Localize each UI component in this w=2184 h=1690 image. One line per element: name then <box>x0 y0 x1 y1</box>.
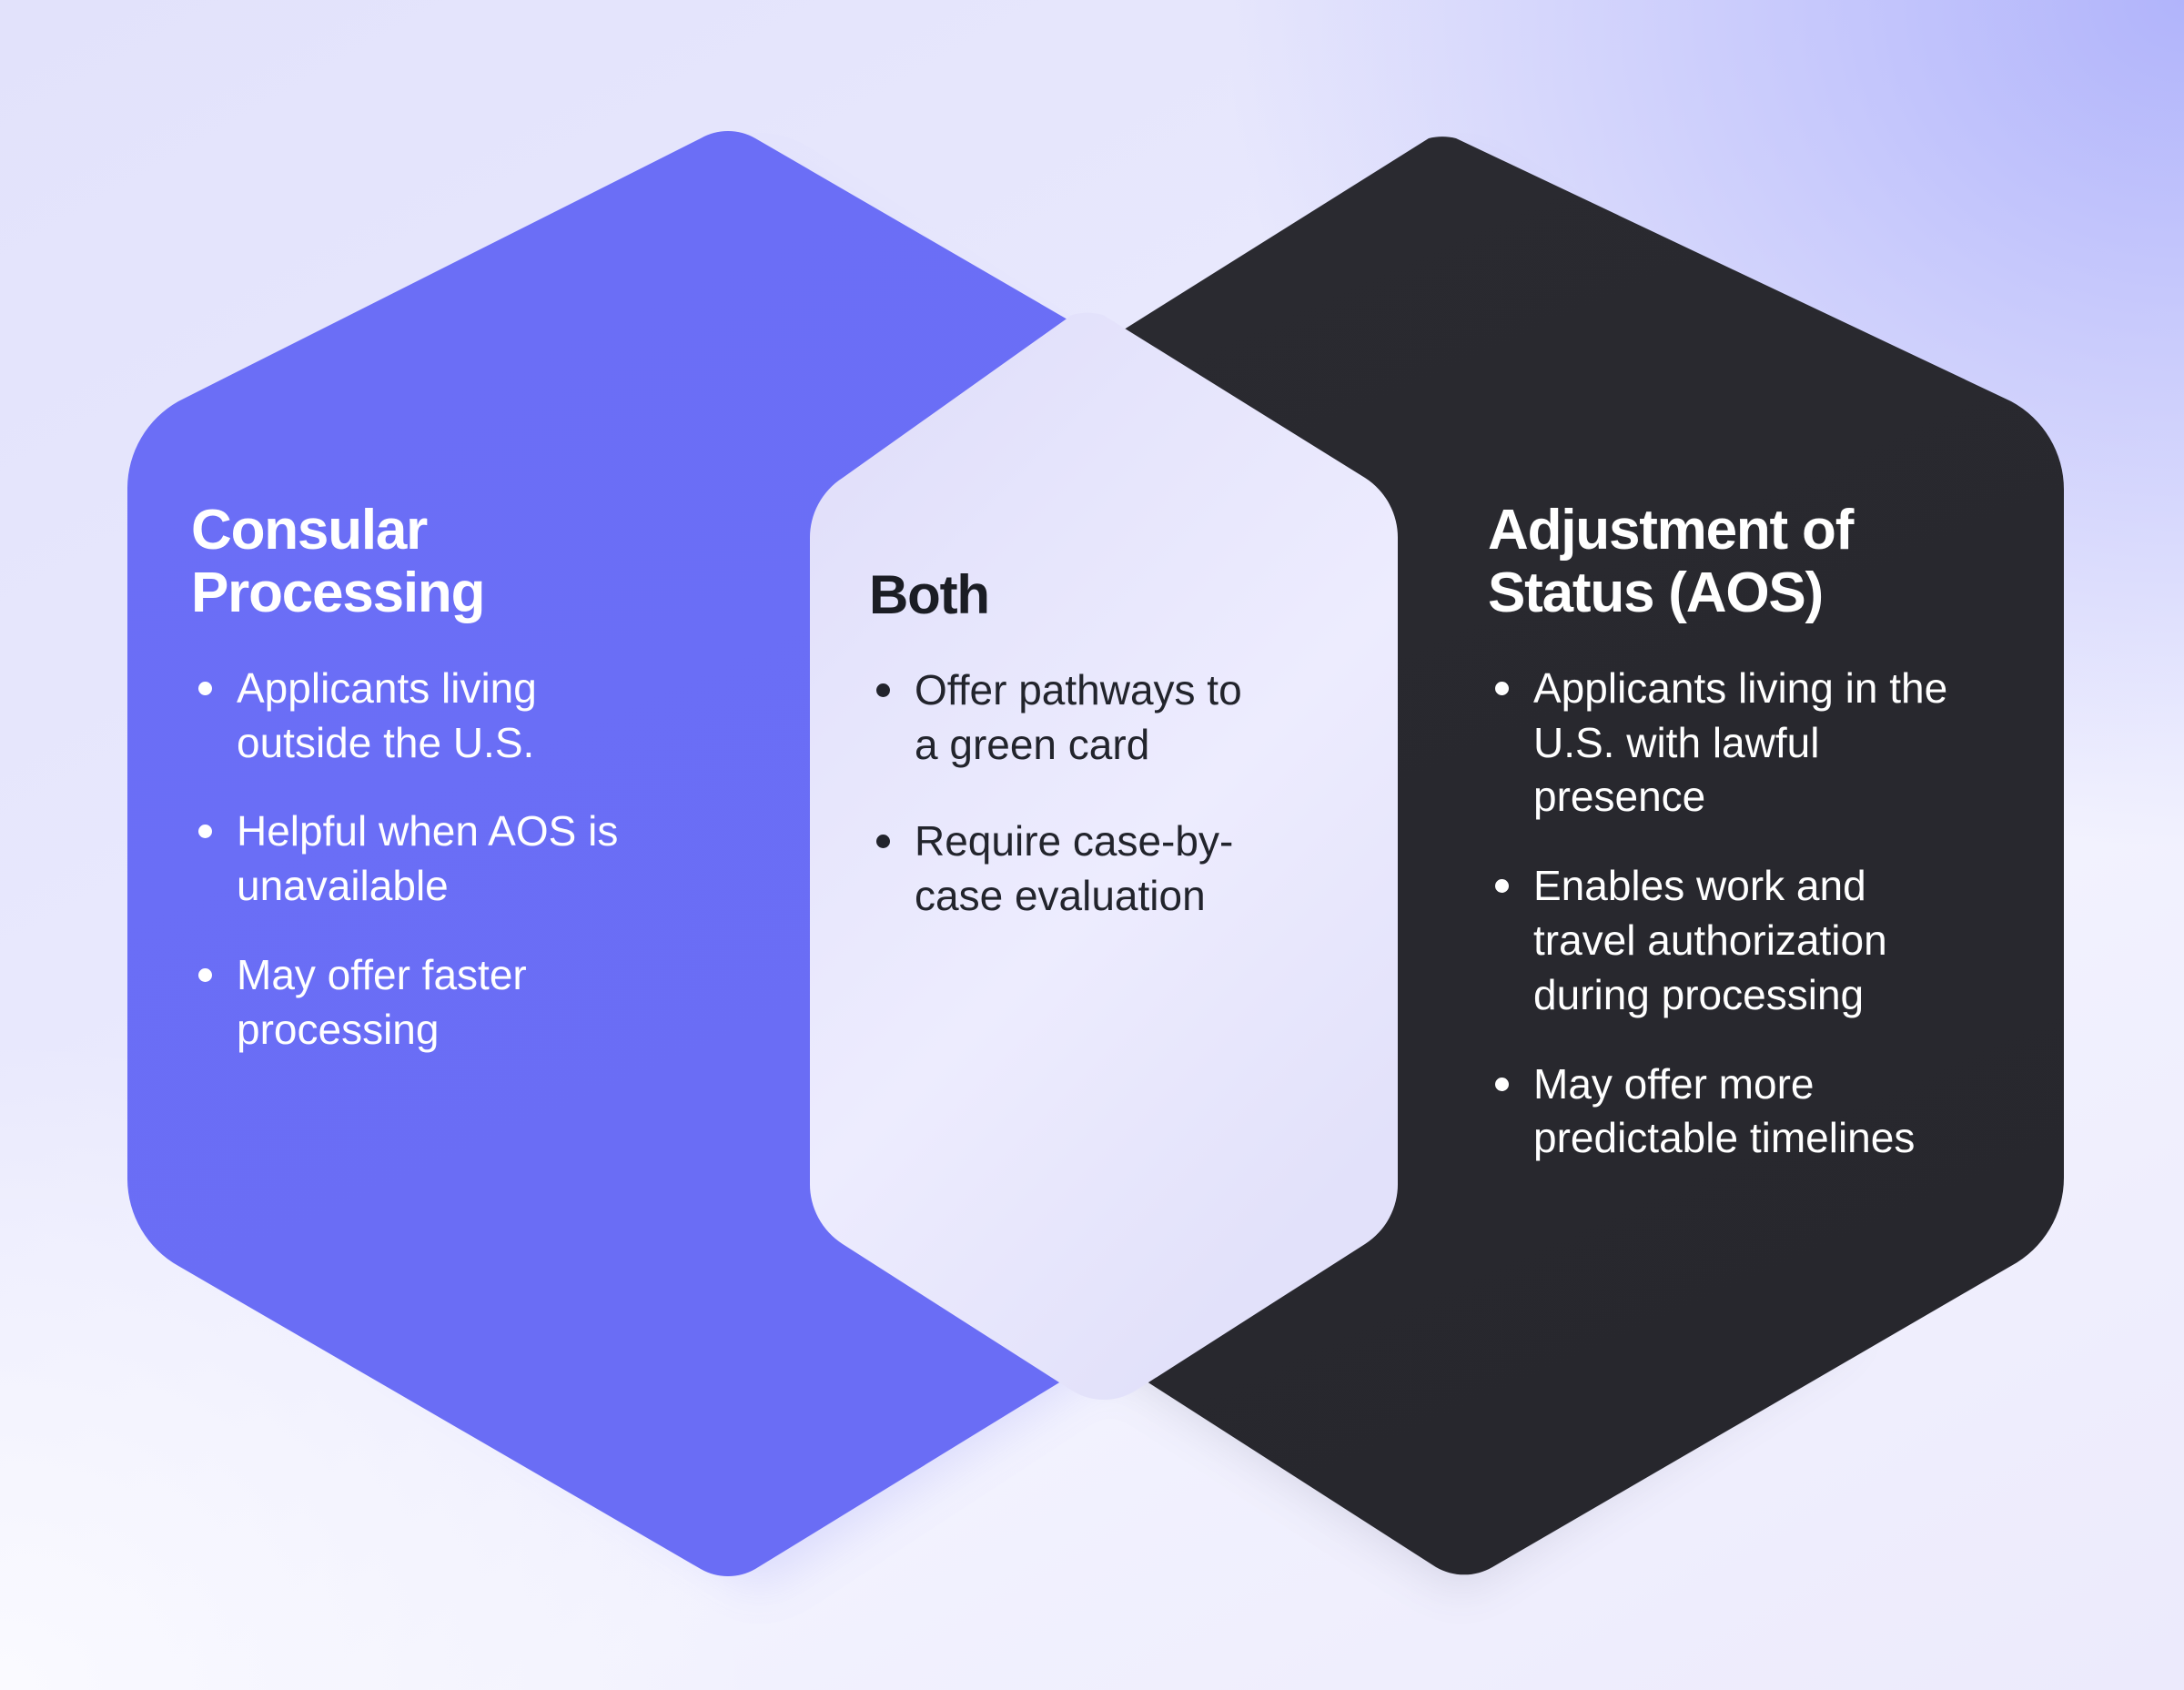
panel-both: Both Offer pathways to a green card Requ… <box>869 564 1269 965</box>
infographic-canvas: Consular Processing Applicants living ou… <box>0 0 2184 1690</box>
panel-right-bullet-list: Applicants living in the U.S. with lawfu… <box>1488 662 1979 1166</box>
list-item-label: Applicants living outside the U.S. <box>237 664 537 766</box>
list-item: May offer more predictable timelines <box>1488 1058 1979 1167</box>
panel-adjustment-of-status: Adjustment of Status (AOS) Applicants li… <box>1488 499 1979 1166</box>
list-item-label: Helpful when AOS is unavailable <box>237 807 618 909</box>
list-item: Helpful when AOS is unavailable <box>191 805 646 914</box>
bullet-dot-icon <box>876 835 890 848</box>
list-item-label: Applicants living in the U.S. with lawfu… <box>1533 664 1947 821</box>
list-item-label: May offer more predictable timelines <box>1533 1060 1915 1162</box>
bullet-dot-icon <box>198 968 212 982</box>
list-item: Applicants living in the U.S. with lawfu… <box>1488 662 1979 825</box>
list-item: Enables work and travel authorization du… <box>1488 859 1979 1022</box>
list-item: Offer pathways to a green card <box>869 663 1269 773</box>
panel-right-title: Adjustment of Status (AOS) <box>1488 499 1979 625</box>
list-item-label: Require case-by-case evaluation <box>915 817 1233 919</box>
list-item-label: Enables work and travel authorization du… <box>1533 862 1887 1018</box>
panel-middle-title: Both <box>869 564 1269 625</box>
list-item-label: Offer pathways to a green card <box>915 666 1242 768</box>
bullet-dot-icon <box>1495 682 1509 695</box>
panel-consular-processing: Consular Processing Applicants living ou… <box>191 499 646 1058</box>
list-item: Applicants living outside the U.S. <box>191 662 646 771</box>
list-item: May offer faster processing <box>191 948 646 1058</box>
list-item: Require case-by-case evaluation <box>869 815 1269 924</box>
panel-left-bullet-list: Applicants living outside the U.S. Helpf… <box>191 662 646 1058</box>
panel-middle-bullet-list: Offer pathways to a green card Require c… <box>869 663 1269 923</box>
bullet-dot-icon <box>1495 1078 1509 1091</box>
bullet-dot-icon <box>876 683 890 697</box>
bullet-dot-icon <box>198 682 212 695</box>
bullet-dot-icon <box>198 825 212 838</box>
panel-left-title: Consular Processing <box>191 499 646 625</box>
bullet-dot-icon <box>1495 879 1509 893</box>
list-item-label: May offer faster processing <box>237 951 527 1053</box>
